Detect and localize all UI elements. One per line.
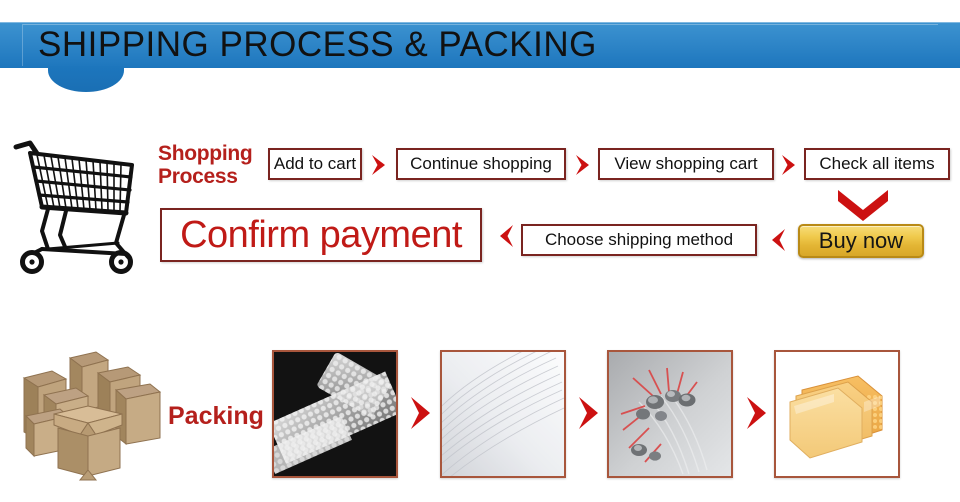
chevron-right-icon-packing-2 bbox=[576, 395, 604, 431]
banner-pendant-tab bbox=[48, 66, 124, 92]
buy-now-label: Buy now bbox=[819, 228, 903, 254]
buy-now-button[interactable]: Buy now bbox=[798, 224, 924, 258]
chevron-right-icon-1 bbox=[369, 153, 393, 177]
step-choose-shipping-method-label: Choose shipping method bbox=[545, 230, 733, 250]
bubble-wrap-photo bbox=[272, 350, 398, 478]
shopping-process-label: Shopping Process bbox=[158, 142, 268, 188]
packing-label: Packing bbox=[168, 402, 264, 431]
shopping-process-label-line2: Process bbox=[158, 165, 268, 188]
step-confirm-payment[interactable]: Confirm payment bbox=[160, 208, 482, 262]
chevron-right-icon-2 bbox=[573, 153, 597, 177]
step-continue-shopping-label: Continue shopping bbox=[410, 154, 552, 174]
step-confirm-payment-label: Confirm payment bbox=[180, 214, 462, 257]
step-add-to-cart-label: Add to cart bbox=[274, 154, 356, 174]
step-continue-shopping[interactable]: Continue shopping bbox=[396, 148, 566, 180]
chevron-right-icon-packing-1 bbox=[408, 395, 436, 431]
chevron-right-icon-3 bbox=[779, 153, 803, 177]
chevron-left-icon-1 bbox=[492, 222, 516, 250]
shopping-cart-icon bbox=[8, 135, 138, 275]
chevron-down-icon bbox=[836, 188, 890, 222]
chevron-left-icon-2 bbox=[764, 226, 788, 254]
chevron-right-icon-packing-3 bbox=[744, 395, 772, 431]
step-view-shopping-cart[interactable]: View shopping cart bbox=[598, 148, 774, 180]
cardboard-boxes-icon bbox=[10, 340, 165, 485]
step-choose-shipping-method[interactable]: Choose shipping method bbox=[521, 224, 757, 256]
step-check-all-items[interactable]: Check all items bbox=[804, 148, 950, 180]
step-view-shopping-cart-label: View shopping cart bbox=[614, 154, 757, 174]
page-title: SHIPPING PROCESS & PACKING bbox=[38, 22, 597, 68]
shopping-process-label-line1: Shopping bbox=[158, 142, 268, 165]
foam-wrap-photo bbox=[440, 350, 566, 478]
wrapped-parts-photo bbox=[607, 350, 733, 478]
step-add-to-cart[interactable]: Add to cart bbox=[268, 148, 362, 180]
step-check-all-items-label: Check all items bbox=[819, 154, 934, 174]
bubble-mailer-photo bbox=[774, 350, 900, 478]
